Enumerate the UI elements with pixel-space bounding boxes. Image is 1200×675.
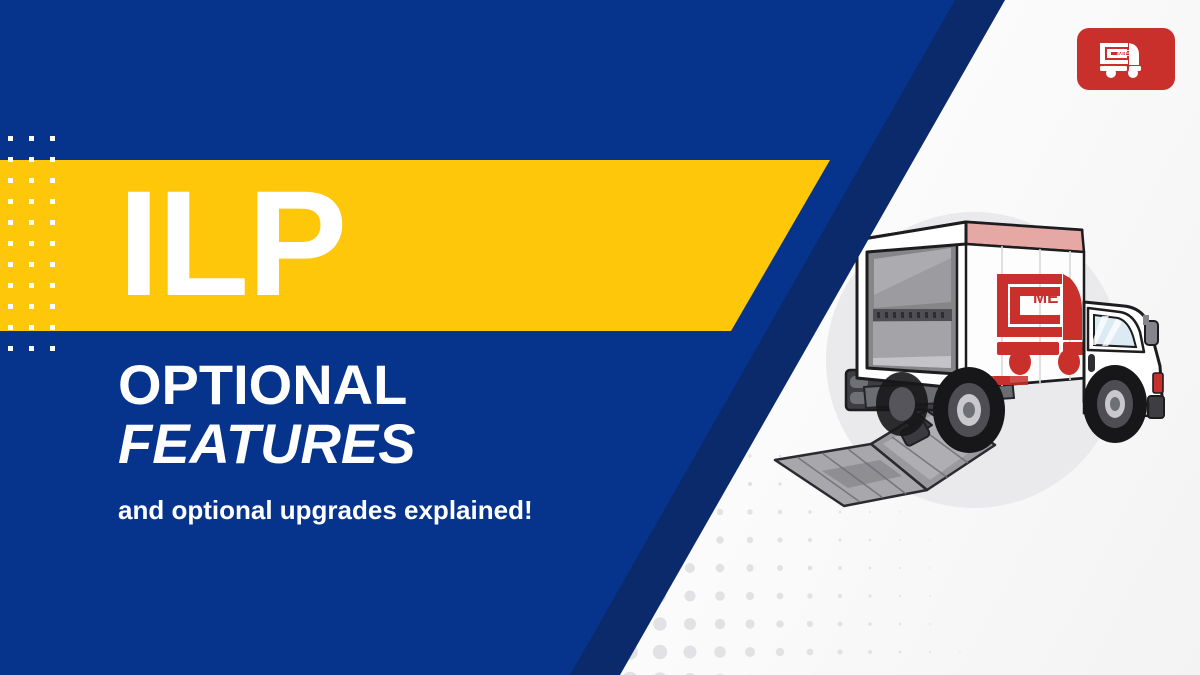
hero-banner: ME xyxy=(0,0,1200,675)
svg-text:ME: ME xyxy=(1117,48,1130,58)
tagline: and optional upgrades explained! xyxy=(118,494,533,526)
moving-truck-icon: ME xyxy=(1095,39,1157,79)
svg-text:ME: ME xyxy=(1033,288,1059,307)
dot-grid-pattern xyxy=(8,136,66,354)
subhead-line-1: OPTIONAL xyxy=(118,356,407,414)
subhead-line-2: FEATURES xyxy=(118,415,416,473)
brand-logo-badge[interactable]: ME xyxy=(1077,28,1175,90)
page-title: ILP xyxy=(118,168,345,318)
